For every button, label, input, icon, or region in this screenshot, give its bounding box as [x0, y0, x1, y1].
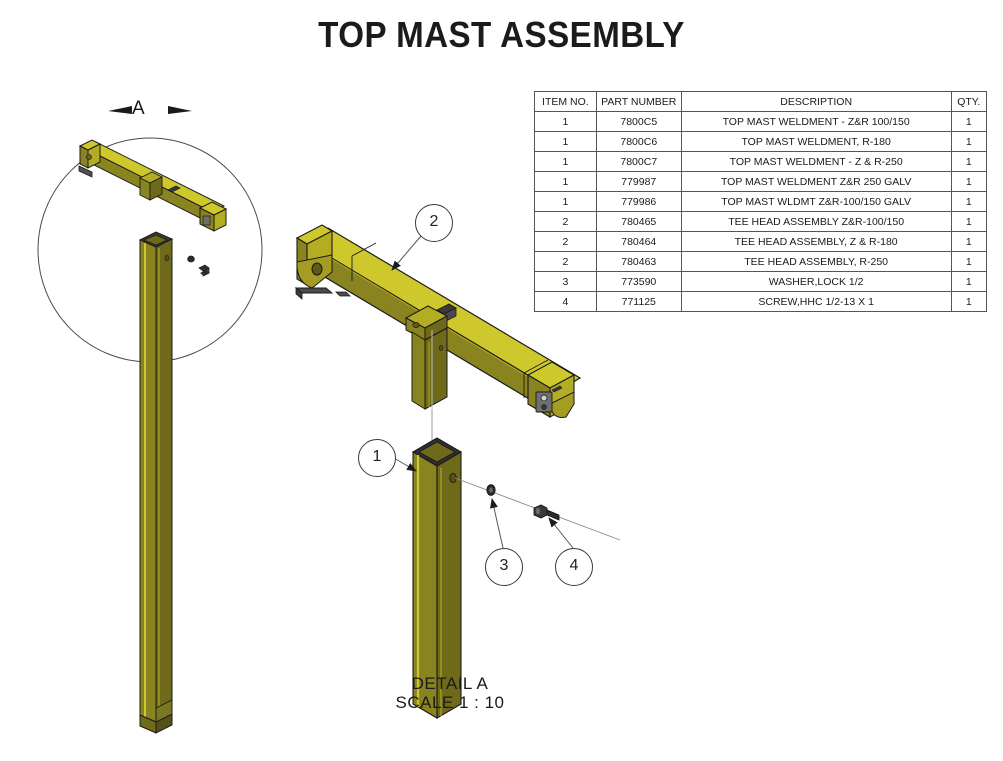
- cell-qty: 1: [951, 212, 986, 232]
- cell-item-no: 1: [535, 152, 597, 172]
- cell-description: TOP MAST WELDMENT - Z&R 100/150: [681, 112, 951, 132]
- cell-description: TOP MAST WELDMENT Z&R 250 GALV: [681, 172, 951, 192]
- cell-qty: 1: [951, 292, 986, 312]
- cell-item-no: 1: [535, 112, 597, 132]
- header-description: DESCRIPTION: [681, 92, 951, 112]
- cell-item-no: 1: [535, 132, 597, 152]
- cell-item-no: 4: [535, 292, 597, 312]
- balloon-callout-2[interactable]: 2: [415, 204, 453, 242]
- detail-cross-beam: [79, 140, 226, 231]
- cell-description: TOP MAST WLDMT Z&R-100/150 GALV: [681, 192, 951, 212]
- table-row: 2780464TEE HEAD ASSEMBLY, Z & R-1801: [535, 232, 987, 252]
- cell-item-no: 2: [535, 212, 597, 232]
- right-tee-head: [528, 362, 574, 417]
- cell-item-no: 1: [535, 192, 597, 212]
- cell-description: TOP MAST WELDMENT - Z & R-250: [681, 152, 951, 172]
- cell-part-number: 771125: [596, 292, 681, 312]
- center-saddle-bracket: [406, 306, 447, 409]
- table-row: 2780463TEE HEAD ASSEMBLY, R-2501: [535, 252, 987, 272]
- cell-qty: 1: [951, 232, 986, 252]
- table-row: 17800C7TOP MAST WELDMENT - Z & R-2501: [535, 152, 987, 172]
- lock-washer-part: [487, 485, 495, 496]
- cell-description: TEE HEAD ASSEMBLY, Z & R-180: [681, 232, 951, 252]
- cell-qty: 1: [951, 152, 986, 172]
- cell-qty: 1: [951, 192, 986, 212]
- table-row: 17800C5TOP MAST WELDMENT - Z&R 100/1501: [535, 112, 987, 132]
- detail-section-letter: A: [132, 98, 145, 120]
- cell-item-no: 2: [535, 232, 597, 252]
- cell-description: TEE HEAD ASSEMBLY, R-250: [681, 252, 951, 272]
- table-row: 17800C6TOP MAST WELDMENT, R-1801: [535, 132, 987, 152]
- header-part-number: PART NUMBER: [596, 92, 681, 112]
- page-title: TOP MAST ASSEMBLY: [40, 14, 963, 56]
- beam-top-fitting: [437, 304, 456, 322]
- detail-view-assembly: [79, 140, 226, 276]
- header-item-no: ITEM NO.: [535, 92, 597, 112]
- table-row: 1779987TOP MAST WELDMENT Z&R 250 GALV1: [535, 172, 987, 192]
- cell-description: TOP MAST WELDMENT, R-180: [681, 132, 951, 152]
- cell-qty: 1: [951, 132, 986, 152]
- cell-part-number: 7800C6: [596, 132, 681, 152]
- table-header-row: ITEM NO. PART NUMBER DESCRIPTION QTY.: [535, 92, 987, 112]
- cell-description: WASHER,LOCK 1/2: [681, 272, 951, 292]
- assembly-axis-hardware: [455, 478, 620, 540]
- cell-part-number: 780464: [596, 232, 681, 252]
- balloon-callout-1[interactable]: 1: [358, 439, 396, 477]
- cell-qty: 1: [951, 172, 986, 192]
- cell-part-number: 779987: [596, 172, 681, 192]
- detail-hardware: [188, 256, 209, 276]
- cell-qty: 1: [951, 112, 986, 132]
- detail-loose-hardware: [188, 256, 210, 276]
- parts-list-table: ITEM NO. PART NUMBER DESCRIPTION QTY. 17…: [534, 91, 987, 312]
- cell-item-no: 1: [535, 172, 597, 192]
- detail-view-name: DETAIL A: [340, 674, 560, 693]
- cell-description: SCREW,HHC 1/2-13 X 1: [681, 292, 951, 312]
- balloon-callout-3[interactable]: 3: [485, 548, 523, 586]
- cell-item-no: 2: [535, 252, 597, 272]
- table-row: 1779986TOP MAST WLDMT Z&R-100/150 GALV1: [535, 192, 987, 212]
- detail-circle-a: [38, 106, 262, 362]
- table-row: 3773590WASHER,LOCK 1/21: [535, 272, 987, 292]
- cell-item-no: 3: [535, 272, 597, 292]
- cell-part-number: 773590: [596, 272, 681, 292]
- detail-view-label: DETAIL A SCALE 1 : 10: [340, 674, 560, 712]
- cell-part-number: 779986: [596, 192, 681, 212]
- cell-part-number: 780465: [596, 212, 681, 232]
- cell-qty: 1: [951, 252, 986, 272]
- left-tee-head: [296, 225, 350, 299]
- cell-part-number: 7800C5: [596, 112, 681, 132]
- header-qty: QTY.: [951, 92, 986, 112]
- table-row: 4771125SCREW,HHC 1/2-13 X 11: [535, 292, 987, 312]
- hex-screw-part: [534, 505, 559, 520]
- balloon-callout-4[interactable]: 4: [555, 548, 593, 586]
- cell-part-number: 7800C7: [596, 152, 681, 172]
- cell-part-number: 780463: [596, 252, 681, 272]
- detail-view-scale: SCALE 1 : 10: [340, 693, 560, 712]
- long-mast-tube: [140, 232, 172, 733]
- cell-description: TEE HEAD ASSEMBLY Z&R-100/150: [681, 212, 951, 232]
- cell-qty: 1: [951, 272, 986, 292]
- table-row: 2780465TEE HEAD ASSEMBLY Z&R-100/1501: [535, 212, 987, 232]
